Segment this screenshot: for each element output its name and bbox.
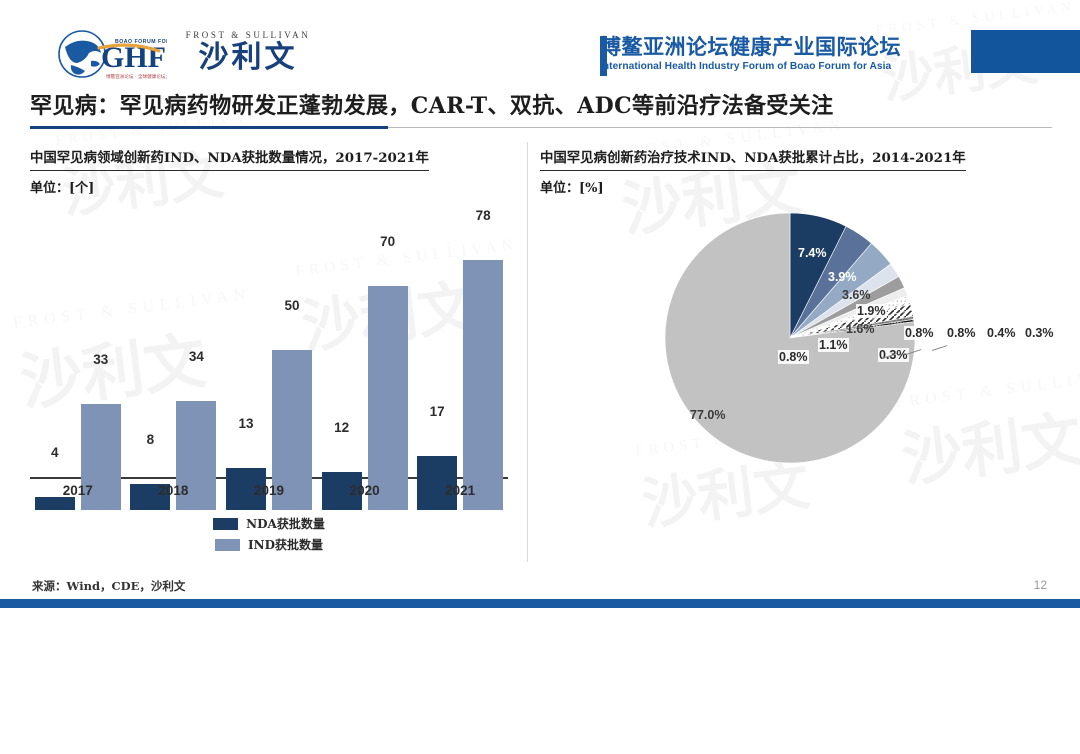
bar-legend-label: NDA获批数量: [246, 515, 325, 532]
ghf-logo-icon: GHF BOAO FORUM FOR ASIA 博鳌亚洲论坛 · 全球健康论坛大…: [55, 27, 167, 83]
bar-value-label: 78: [460, 208, 506, 223]
left-chart-unit: 单位：[个]: [30, 177, 429, 196]
left-chart-header: 中国罕见病领域创新药IND、NDA获批数量情况，2017-2021年 单位：[个…: [30, 146, 429, 196]
right-chart-title: 中国罕见病创新药治疗技术IND、NDA获批累计占比，2014-2021年: [540, 146, 966, 171]
footer-bar: [0, 599, 1080, 608]
bar-category-label: 2017: [28, 483, 128, 498]
pie-value-label-Fe融合蛋白: 1.6%: [846, 322, 875, 336]
forum-title-cn: 博鳌亚洲论坛健康产业国际论坛: [600, 36, 901, 59]
forum-brand: 博鳌亚洲论坛健康产业国际论坛 International Health Indu…: [600, 32, 901, 76]
frost-sullivan-cn: 沙利文: [178, 41, 318, 75]
bar-value-label: 33: [78, 352, 124, 367]
pie-leader-line: [932, 345, 948, 351]
source-note: 来源：Wind，CDE，沙利文: [32, 578, 185, 594]
bar-legend-swatch: [213, 518, 238, 530]
bar-value-label: 70: [365, 234, 411, 249]
right-chart-unit: 单位：[%]: [540, 177, 966, 196]
pie-svg: [660, 208, 920, 468]
pie-value-label-其他: 77.0%: [690, 408, 725, 422]
right-chart-header: 中国罕见病创新药治疗技术IND、NDA获批累计占比，2014-2021年 单位：…: [540, 146, 966, 196]
svg-text:博鳌亚洲论坛 · 全球健康论坛大会: 博鳌亚洲论坛 · 全球健康论坛大会: [106, 73, 167, 80]
pie-slices: [665, 213, 915, 463]
frost-sullivan-logo: FROST & SULLIVAN 沙利文: [178, 30, 318, 82]
bar-legend: NDA获批数量IND获批数量: [30, 515, 508, 557]
pie-value-label-干细胞疗法: 0.8%: [778, 350, 809, 364]
bar-value-label: 17: [414, 404, 460, 419]
bar-value-label: 12: [319, 420, 365, 435]
pie-value-label-TCR-T: 0.4%: [986, 326, 1017, 340]
bar-legend-swatch: [215, 539, 240, 551]
bar-category-label: 2020: [315, 483, 415, 498]
bar-legend-item[interactable]: IND获批数量: [30, 536, 508, 553]
title-divider-line: [388, 127, 1052, 128]
forum-title-en: International Health Industry Forum of B…: [600, 60, 901, 73]
frost-sullivan-en: FROST & SULLIVAN: [178, 30, 318, 40]
bar-value-label: 4: [32, 445, 78, 460]
header-blue-block: [971, 30, 1080, 73]
bar-category-label: 2018: [123, 483, 223, 498]
pie-value-label-PROTAC: 0.3%: [1024, 326, 1055, 340]
pie-value-label-ADC: 3.6%: [842, 288, 871, 302]
pie-value-label-CAR-NK: 0.8%: [946, 326, 977, 340]
bar-category-label: 2019: [219, 483, 319, 498]
bar-value-label: 8: [127, 432, 173, 447]
forum-brand-accent-bar: [600, 36, 607, 76]
panel-divider: [527, 142, 528, 562]
title-divider-accent: [30, 126, 388, 129]
bar-category-label: 2021: [410, 483, 510, 498]
ghf-logo: GHF BOAO FORUM FOR ASIA 博鳌亚洲论坛 · 全球健康论坛大…: [55, 27, 167, 83]
page-number: 12: [1034, 578, 1047, 592]
bar-IND获批数量-2020: [368, 286, 408, 510]
pie-value-label-基因疗法: 1.9%: [856, 304, 887, 318]
bar-value-label: 50: [269, 298, 315, 313]
pie-value-label-溶瘤病毒: 1.1%: [818, 338, 849, 352]
svg-text:BOAO FORUM FOR ASIA: BOAO FORUM FOR ASIA: [115, 39, 167, 45]
bar-chart: 43320178342018135020191270202017782021 N…: [30, 205, 508, 510]
pie-value-label-酶替代疗法: 0.8%: [904, 326, 935, 340]
pie-chart: 7.4%3.9%3.6%1.9%1.6%1.1%0.8%0.3%0.8%0.8%…: [540, 200, 1040, 510]
bar-NDA获批数量-2017: [35, 497, 75, 510]
page-title: 罕见病：罕见病药物研发正蓬勃发展，CAR-T、双抗、ADC等前沿疗法备受关注: [30, 86, 1050, 122]
bar-value-label: 13: [223, 416, 269, 431]
left-chart-title: 中国罕见病领域创新药IND、NDA获批数量情况，2017-2021年: [30, 146, 429, 171]
bar-legend-label: IND获批数量: [248, 536, 323, 553]
pie-value-label-CAR-T: 7.4%: [798, 246, 827, 260]
bar-IND获批数量-2021: [463, 260, 503, 510]
bar-value-label: 34: [173, 349, 219, 364]
title-divider: [30, 126, 1052, 129]
bar-legend-item[interactable]: NDA获批数量: [30, 515, 508, 532]
page-header: GHF BOAO FORUM FOR ASIA 博鳌亚洲论坛 · 全球健康论坛大…: [0, 0, 1080, 86]
pie-value-label-双抗: 3.9%: [828, 270, 857, 284]
